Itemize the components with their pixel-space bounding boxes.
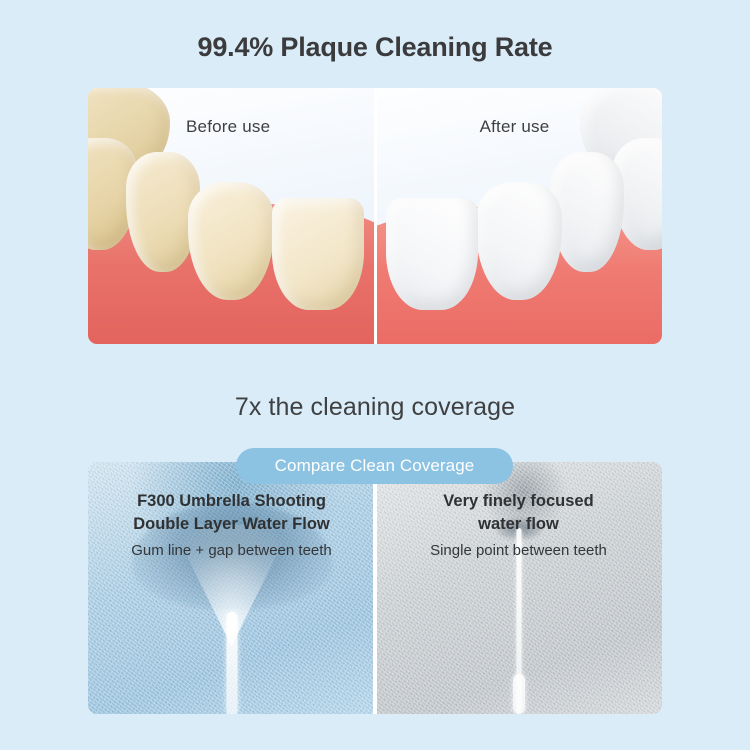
after-incisor — [386, 198, 478, 310]
water-flow-comparison-panel: F300 Umbrella Shooting Double Layer Wate… — [88, 462, 662, 714]
umbrella-flow-subtitle: Gum line + gap between teeth — [88, 540, 375, 562]
focused-jet-base — [513, 674, 525, 714]
umbrella-flow-title-line1: F300 Umbrella Shooting — [88, 490, 375, 513]
after-use-image: After use — [375, 88, 662, 344]
focused-flow-title-line2: water flow — [375, 513, 662, 536]
page-title-plaque: 99.4% Plaque Cleaning Rate — [0, 32, 750, 63]
umbrella-flow-caption: F300 Umbrella Shooting Double Layer Wate… — [88, 490, 375, 562]
before-use-label: Before use — [186, 117, 270, 137]
focused-flow-subtitle: Single point between teeth — [375, 540, 662, 562]
product-feature-page: 99.4% Plaque Cleaning Rate Before use Af… — [0, 0, 750, 750]
before-after-teeth-panel: Before use After use — [88, 88, 662, 344]
compare-clean-coverage-badge: Compare Clean Coverage — [236, 448, 513, 484]
focused-flow-caption: Very finely focused water flow Single po… — [375, 490, 662, 562]
after-use-label: After use — [375, 117, 658, 137]
umbrella-flow-title-line2: Double Layer Water Flow — [88, 513, 375, 536]
umbrella-jet-stem — [226, 612, 237, 714]
before-incisor — [272, 198, 364, 310]
before-use-image: Before use — [88, 88, 375, 344]
page-title-coverage: 7x the cleaning coverage — [0, 393, 750, 422]
focused-flow-title-line1: Very finely focused — [375, 490, 662, 513]
